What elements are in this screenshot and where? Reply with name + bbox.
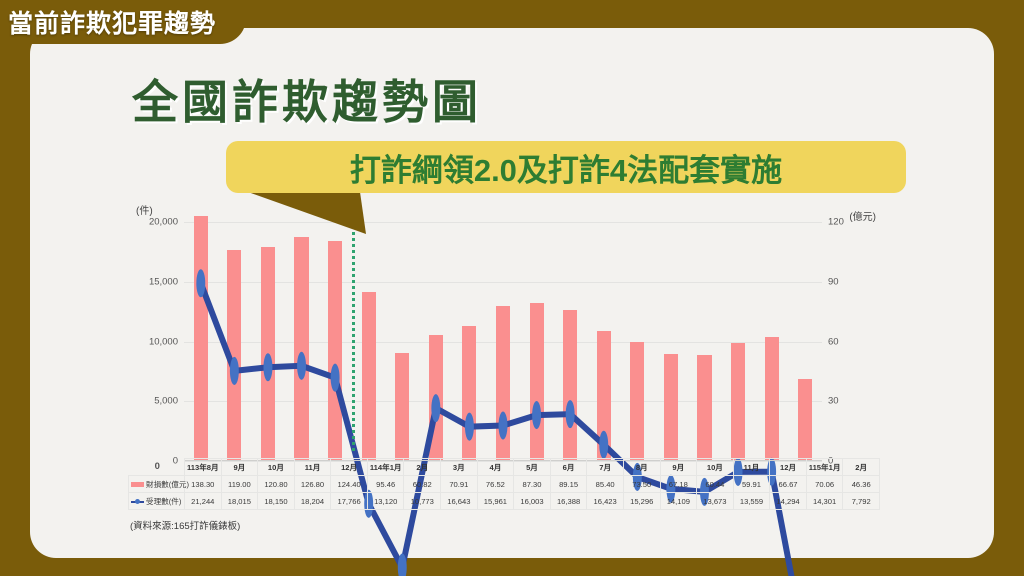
table-cell-loss: 119.00 <box>221 476 258 493</box>
line-marker <box>230 357 239 385</box>
table-header-row: 0 113年8月9月10月11月12月114年1月2月3月4月5月6月7月8月9… <box>129 459 880 476</box>
right-axis-tick: 120 <box>828 217 844 228</box>
legend-loss-label: 財損數(億元) <box>146 480 189 489</box>
table-cell-loss: 46.36 <box>843 476 880 493</box>
table-cell-loss: 126.80 <box>294 476 331 493</box>
bar-swatch-icon <box>131 482 144 487</box>
table-cell-cases: 16,423 <box>587 493 624 510</box>
table-cell-cases: 16,388 <box>550 493 587 510</box>
table-col-header: 10月 <box>258 459 295 476</box>
table-cell-loss: 59.91 <box>733 476 770 493</box>
table-cell-cases: 13,559 <box>733 493 770 510</box>
trend-chart: (件) (億元) 05,00010,00015,00020,000 030609… <box>128 200 880 475</box>
table-cell-loss: 73.50 <box>623 476 660 493</box>
table-col-header: 7月 <box>587 459 624 476</box>
line-swatch-icon <box>131 501 144 503</box>
right-axis-tick: 90 <box>828 276 839 287</box>
left-axis-tick: 5,000 <box>154 396 178 407</box>
table-cell-loss: 67.18 <box>660 476 697 493</box>
table-cell-loss: 89.15 <box>550 476 587 493</box>
legend-case: 受理數(件) <box>129 493 185 510</box>
left-axis-tick: 20,000 <box>149 217 178 228</box>
table-cell-loss: 120.80 <box>258 476 295 493</box>
table-cell-cases: 15,961 <box>477 493 514 510</box>
left-axis-tick: 10,000 <box>149 336 178 347</box>
table-col-header: 11月 <box>294 459 331 476</box>
table-cell-cases: 13,673 <box>697 493 734 510</box>
callout-banner: 打詐綱領2.0及打詐4法配套實施 <box>226 141 906 193</box>
table-col-header: 9月 <box>660 459 697 476</box>
table-cell-cases: 10,773 <box>404 493 441 510</box>
table-cell-cases: 18,204 <box>294 493 331 510</box>
right-axis-tick: 30 <box>828 396 839 407</box>
line-series <box>184 222 822 576</box>
line-marker <box>196 269 205 297</box>
table-cell-loss: 124.40 <box>331 476 368 493</box>
table-col-header: 114年1月 <box>367 459 404 476</box>
line-marker <box>331 364 340 392</box>
table-cell-loss: 138.30 <box>185 476 222 493</box>
legend-case-label: 受理數(件) <box>146 497 181 506</box>
table-cell-loss: 60.82 <box>404 476 441 493</box>
table-col-header: 12月 <box>331 459 368 476</box>
table-cell-loss: 76.52 <box>477 476 514 493</box>
line-marker <box>263 353 272 381</box>
table-cell-loss: 60.44 <box>697 476 734 493</box>
legend-loss: 財損數(億元) <box>129 476 185 493</box>
table-col-header: 115年1月 <box>806 459 843 476</box>
table-cell-cases: 16,003 <box>514 493 551 510</box>
header-tab: 當前詐欺犯罪趨勢 <box>0 0 246 44</box>
table-cell-cases: 14,301 <box>806 493 843 510</box>
table-cell-cases: 14,294 <box>770 493 807 510</box>
table-col-header: 9月 <box>221 459 258 476</box>
right-axis-tick: 60 <box>828 336 839 347</box>
table-col-header: 8月 <box>623 459 660 476</box>
table-cell-cases: 7,792 <box>843 493 880 510</box>
table-cell-cases: 13,120 <box>367 493 404 510</box>
axis-zero-label: 0 <box>129 459 185 476</box>
page-title: 全國詐欺趨勢圖 <box>132 66 482 132</box>
table-col-header: 4月 <box>477 459 514 476</box>
line-marker <box>465 413 474 441</box>
arrow-pointer-icon <box>248 190 366 238</box>
line-marker <box>431 394 440 422</box>
table-cell-cases: 18,015 <box>221 493 258 510</box>
table-cell-loss: 70.06 <box>806 476 843 493</box>
table-cell-cases: 16,643 <box>441 493 478 510</box>
data-table: 0 113年8月9月10月11月12月114年1月2月3月4月5月6月7月8月9… <box>128 458 880 510</box>
table-col-header: 2月 <box>404 459 441 476</box>
table-cell-loss: 95.46 <box>367 476 404 493</box>
table-cell-loss: 70.91 <box>441 476 478 493</box>
table-col-header: 6月 <box>550 459 587 476</box>
line-marker <box>499 411 508 439</box>
header-tab-label: 當前詐欺犯罪趨勢 <box>8 4 216 40</box>
table-cell-cases: 17,766 <box>331 493 368 510</box>
table-cell-loss: 66.67 <box>770 476 807 493</box>
table-col-header: 2月 <box>843 459 880 476</box>
table-cell-cases: 18,150 <box>258 493 295 510</box>
source-note: (資料來源:165打詐儀錶板) <box>130 518 240 532</box>
table-cell-loss: 87.30 <box>514 476 551 493</box>
left-axis-unit: (件) <box>136 202 153 217</box>
left-axis-tick: 15,000 <box>149 276 178 287</box>
table-col-header: 3月 <box>441 459 478 476</box>
table-col-header: 11月 <box>733 459 770 476</box>
table-cell-cases: 14,109 <box>660 493 697 510</box>
table-col-header: 5月 <box>514 459 551 476</box>
policy-marker-line <box>352 208 355 451</box>
line-marker <box>599 431 608 459</box>
table-row: 財損數(億元) 138.30119.00120.80126.80124.4095… <box>129 476 880 493</box>
callout-banner-label: 打詐綱領2.0及打詐4法配套實施 <box>350 145 782 190</box>
plot-area: 05,00010,00015,00020,000 0306090120 <box>184 222 822 461</box>
table-col-header: 10月 <box>697 459 734 476</box>
table-col-header: 113年8月 <box>185 459 222 476</box>
table-cell-cases: 15,296 <box>623 493 660 510</box>
table-cell-loss: 85.40 <box>587 476 624 493</box>
table-cell-cases: 21,244 <box>185 493 222 510</box>
line-marker <box>297 352 306 380</box>
right-axis-unit: (億元) <box>849 208 876 223</box>
line-marker <box>532 401 541 429</box>
table-row: 受理數(件) 21,24418,01518,15018,20417,76613,… <box>129 493 880 510</box>
line-marker <box>566 400 575 428</box>
table-col-header: 12月 <box>770 459 807 476</box>
